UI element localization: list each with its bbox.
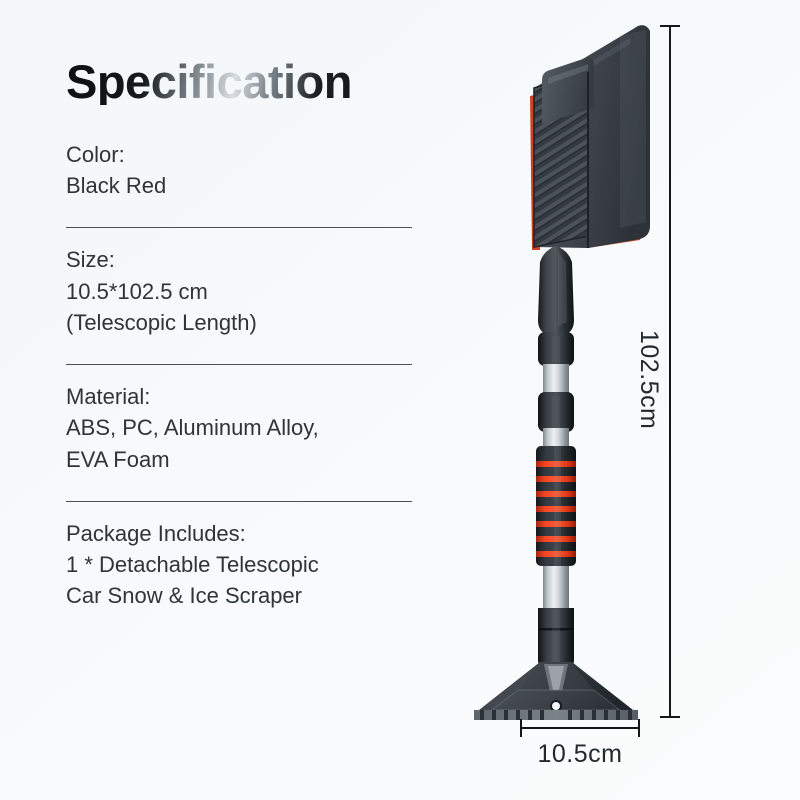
- spec-value-material-line1: ABS, PC, Aluminum Alloy,: [66, 412, 426, 443]
- spec-value-size-note: (Telescopic Length): [66, 307, 426, 338]
- width-dimension-label: 10.5cm: [516, 740, 644, 769]
- spec-value-material-line2: EVA Foam: [66, 444, 426, 475]
- spec-value-package-line1: 1 * Detachable Telescopic: [66, 549, 426, 580]
- spec-row-color: Color: Black Red: [66, 139, 426, 215]
- lower-collar: [538, 608, 574, 668]
- page-title: Specification: [66, 58, 426, 105]
- spec-row-package: Package Includes: 1 * Detachable Telesco…: [66, 518, 426, 626]
- width-dimension-line: [520, 727, 640, 729]
- product-illustration: 102.5cm 10.5cm: [470, 0, 800, 800]
- aluminum-shaft-lower: [543, 566, 569, 614]
- spec-label-color: Color:: [66, 139, 426, 170]
- spec-label-package: Package Includes:: [66, 518, 426, 549]
- spec-value-size: 10.5*102.5 cm: [66, 276, 426, 307]
- snow-brush-head: [528, 25, 650, 260]
- ice-scraper-blade: [474, 662, 638, 720]
- divider: [66, 227, 412, 228]
- height-dimension-line: [669, 25, 671, 718]
- spec-row-material: Material: ABS, PC, Aluminum Alloy, EVA F…: [66, 381, 426, 489]
- spec-row-size: Size: 10.5*102.5 cm (Telescopic Length): [66, 244, 426, 352]
- spec-value-package-line2: Car Snow & Ice Scraper: [66, 580, 426, 611]
- specification-page: Specification Color: Black Red Size: 10.…: [0, 0, 800, 800]
- tapered-neck: [538, 246, 574, 335]
- spec-label-material: Material:: [66, 381, 426, 412]
- height-dimension-label: 102.5cm: [634, 330, 663, 429]
- upper-collar: [538, 332, 574, 366]
- divider: [66, 501, 412, 502]
- aluminum-shaft-upper: [543, 364, 569, 396]
- spec-value-color: Black Red: [66, 170, 426, 201]
- spec-label-size: Size:: [66, 244, 426, 275]
- specification-panel: Specification Color: Black Red Size: 10.…: [66, 58, 426, 626]
- divider: [66, 364, 412, 365]
- foam-grip: [536, 446, 576, 566]
- mid-collar: [538, 392, 574, 432]
